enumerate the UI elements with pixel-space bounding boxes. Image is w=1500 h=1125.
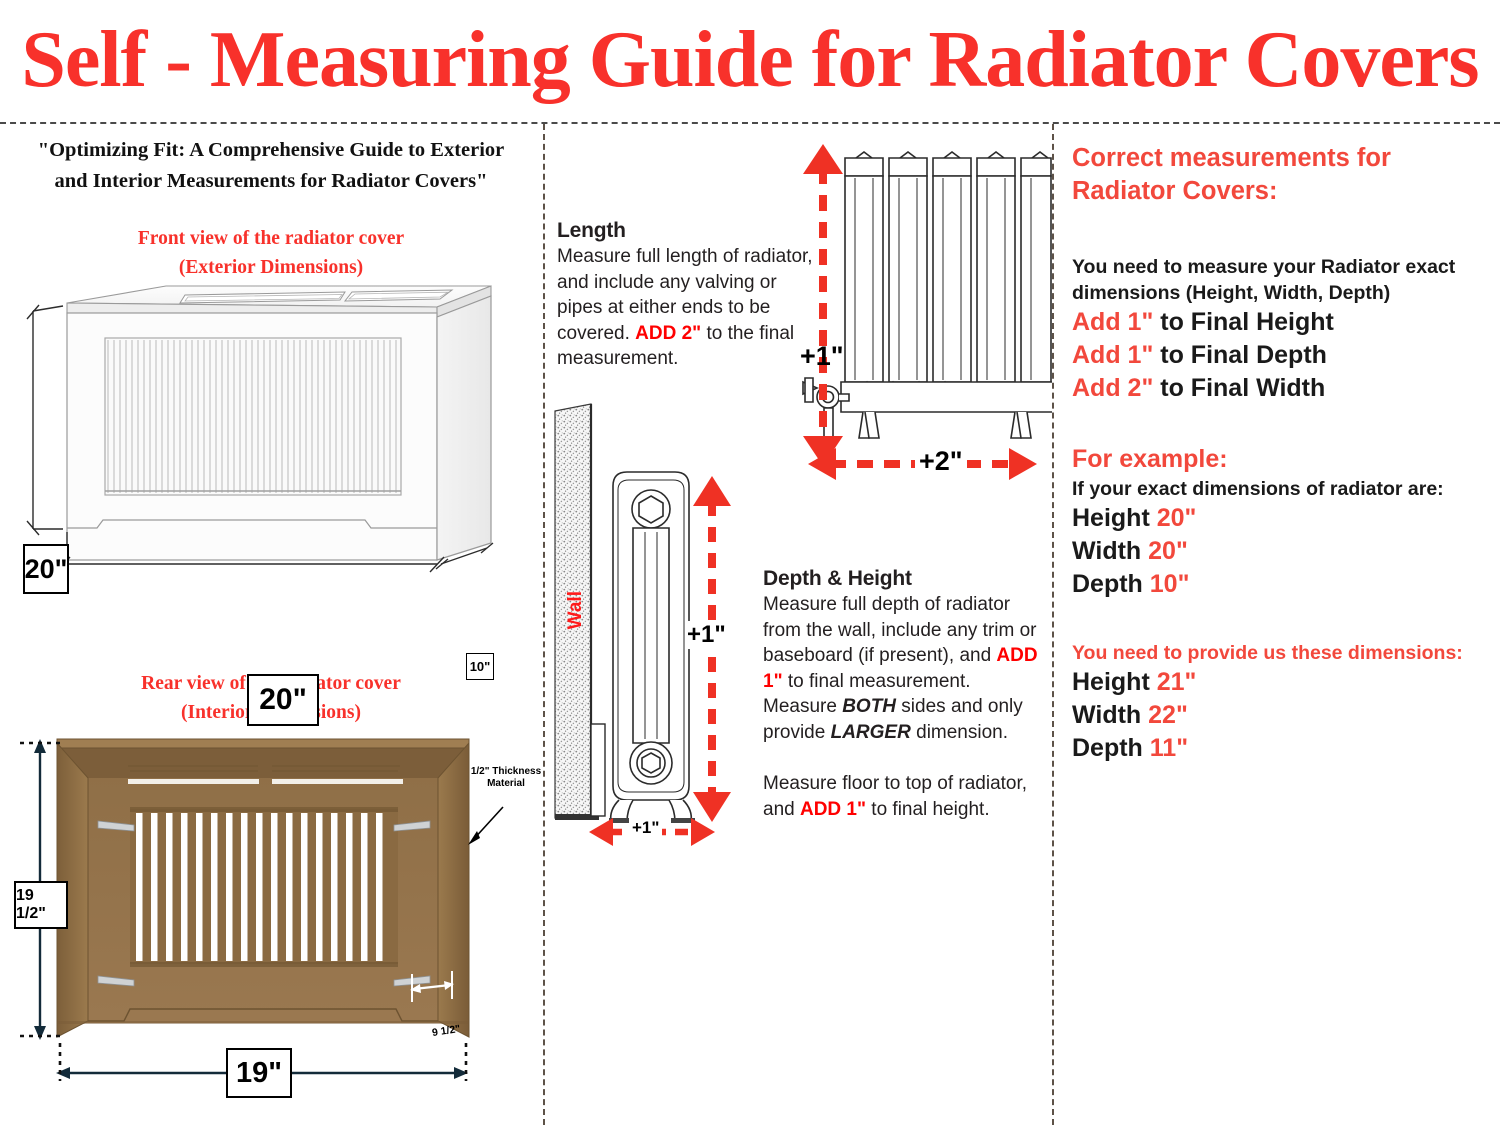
- provide-row-width: Width 22": [1072, 699, 1497, 732]
- side-depth-arrow-label: +1": [629, 818, 662, 838]
- provide-height-label: Height: [1072, 668, 1157, 696]
- example-heading: For example:: [1072, 443, 1497, 476]
- right-rules-block: You need to measure your Radiator exact …: [1072, 254, 1497, 405]
- front-height-value: 20": [25, 554, 68, 585]
- wall-label: Wall: [565, 591, 587, 629]
- page-title: Self - Measuring Guide for Radiator Cove…: [0, 18, 1500, 102]
- page-title-text: Self - Measuring Guide for Radiator Cove…: [0, 18, 1500, 102]
- rear-width-value: 19": [236, 1057, 282, 1090]
- example-row-depth: Depth 10": [1072, 568, 1497, 601]
- right-intro-line2: dimensions (Height, Width, Depth): [1072, 280, 1497, 306]
- right-example-block: For example: If your exact dimensions of…: [1072, 443, 1497, 601]
- front-view-drawing: [0, 276, 543, 716]
- right-heading: Correct measurements for Radiator Covers…: [1072, 142, 1492, 208]
- front-depth-dimension-box: 10": [466, 653, 494, 680]
- provide-heading: You need to provide us these dimensions:: [1072, 640, 1497, 666]
- rule-depth-black: to Final Depth: [1153, 341, 1327, 369]
- right-provide-block: You need to provide us these dimensions:…: [1072, 640, 1497, 765]
- rule-height-black: to Final Height: [1153, 308, 1334, 336]
- example-width-label: Width: [1072, 537, 1148, 565]
- front-width-value: 20": [259, 683, 307, 717]
- side-height-arrow-label: +1": [685, 621, 728, 649]
- right-intro-line1: You need to measure your Radiator exact: [1072, 254, 1497, 280]
- provide-depth-value: 11": [1150, 734, 1188, 762]
- rule-width: Add 2" to Final Width: [1072, 372, 1497, 405]
- example-intro: If your exact dimensions of radiator are…: [1072, 476, 1497, 502]
- front-view-heading: Front view of the radiator cover (Exteri…: [6, 224, 536, 282]
- rule-width-red: Add 2": [1072, 374, 1153, 402]
- example-height-value: 20": [1157, 504, 1197, 532]
- rule-width-black: to Final Width: [1153, 374, 1325, 402]
- front-view-illustration: 20" 20" 10": [0, 276, 543, 716]
- side-height-arrow: [693, 476, 731, 822]
- infographic-page: Self - Measuring Guide for Radiator Cove…: [0, 0, 1500, 1125]
- rear-view-illustration: 19 1/2" 19": [0, 721, 543, 1121]
- lead-quote: "Optimizing Fit: A Comprehensive Guide t…: [6, 135, 536, 197]
- front-view-heading-line1: Front view of the radiator cover: [138, 228, 404, 249]
- rear-height-dimension-box: 19 1/2": [14, 881, 68, 929]
- radiator-side-glyph: [609, 472, 695, 823]
- provide-depth-label: Depth: [1072, 734, 1150, 762]
- rule-height-red: Add 1": [1072, 308, 1153, 336]
- rule-depth-red: Add 1": [1072, 341, 1153, 369]
- radiator-front-glyph: [803, 152, 1052, 438]
- front-depth-value: 10": [470, 659, 491, 674]
- example-depth-label: Depth: [1072, 570, 1150, 598]
- left-column: "Optimizing Fit: A Comprehensive Guide t…: [0, 126, 543, 1125]
- thickness-note-line2: Material: [487, 778, 525, 789]
- middle-diagrams: [545, 126, 1052, 1125]
- example-row-height: Height 20": [1072, 502, 1497, 535]
- front-width-arrow-label: +2": [915, 446, 967, 477]
- front-view-heading-line2: (Exterior Dimensions): [179, 257, 363, 278]
- right-column: Correct measurements for Radiator Covers…: [1054, 126, 1500, 1125]
- rear-width-dimension-box: 19": [226, 1048, 292, 1098]
- thickness-note-line1: 1/2" Thickness: [471, 766, 541, 777]
- provide-row-depth: Depth 11": [1072, 732, 1497, 765]
- rule-depth: Add 1" to Final Depth: [1072, 339, 1497, 372]
- front-width-dimension-box: 20": [247, 674, 319, 726]
- lead-quote-line2: and Interior Measurements for Radiator C…: [55, 170, 488, 192]
- front-height-arrow-label: +1": [800, 341, 844, 372]
- example-width-value: 20": [1148, 537, 1188, 565]
- provide-height-value: 21": [1157, 668, 1197, 696]
- front-height-arrow: [803, 144, 843, 466]
- right-intro: You need to measure your Radiator exact …: [1072, 254, 1497, 306]
- rule-height: Add 1" to Final Height: [1072, 306, 1497, 339]
- front-height-dimension-box: 20": [23, 544, 69, 594]
- provide-width-value: 22": [1148, 701, 1188, 729]
- thickness-material-note: 1/2" Thickness Material: [470, 766, 542, 790]
- example-height-label: Height: [1072, 504, 1157, 532]
- rear-height-value: 19 1/2": [16, 887, 66, 923]
- example-depth-value: 10": [1150, 570, 1190, 598]
- lead-quote-line1: "Optimizing Fit: A Comprehensive Guide t…: [38, 139, 505, 161]
- right-heading-line1: Correct measurements for: [1072, 142, 1492, 175]
- right-heading-line2: Radiator Covers:: [1072, 175, 1492, 208]
- provide-row-height: Height 21": [1072, 666, 1497, 699]
- provide-width-label: Width: [1072, 701, 1148, 729]
- example-row-width: Width 20": [1072, 535, 1497, 568]
- horizontal-divider: [0, 122, 1500, 124]
- middle-column: Length Measure full length of radiator, …: [545, 126, 1052, 1125]
